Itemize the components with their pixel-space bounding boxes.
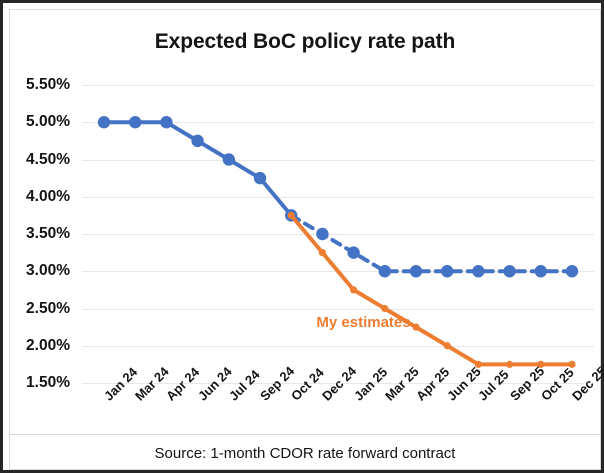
data-point-marker <box>191 135 203 147</box>
plot-area: 5.50%5.00%4.50%4.00%3.50%3.00%2.50%2.00%… <box>82 85 594 383</box>
data-point-marker <box>410 265 422 277</box>
data-point-marker <box>506 361 513 368</box>
data-point-marker <box>223 153 235 165</box>
y-tick-label: 5.50% <box>0 76 70 94</box>
data-point-marker <box>535 265 547 277</box>
data-point-marker <box>379 265 391 277</box>
data-point-marker <box>472 265 484 277</box>
source-caption: Source: 1-month CDOR rate forward contra… <box>155 445 456 462</box>
data-point-marker <box>319 249 326 256</box>
data-point-marker <box>316 228 328 240</box>
data-point-marker <box>350 286 357 293</box>
data-point-marker <box>568 361 575 368</box>
data-point-marker <box>160 116 172 128</box>
chart-area: Expected BoC policy rate path 5.50%5.00%… <box>10 10 600 434</box>
data-point-marker <box>566 265 578 277</box>
data-point-marker <box>381 305 388 312</box>
series-lines <box>82 85 594 383</box>
y-tick-label: 3.00% <box>0 262 70 280</box>
data-point-marker <box>441 265 453 277</box>
y-tick-label: 4.50% <box>0 151 70 169</box>
series-line <box>291 215 572 364</box>
y-tick-label: 5.00% <box>0 113 70 131</box>
data-point-marker <box>254 172 266 184</box>
chart-inner-frame: Expected BoC policy rate path 5.50%5.00%… <box>9 9 601 470</box>
data-point-marker <box>288 212 295 219</box>
data-point-marker <box>347 246 359 258</box>
my-estimates-annotation: My estimates <box>316 314 410 331</box>
chart-title: Expected BoC policy rate path <box>10 30 600 54</box>
y-tick-label: 4.00% <box>0 188 70 206</box>
data-point-marker <box>444 342 451 349</box>
source-box: Source: 1-month CDOR rate forward contra… <box>10 434 600 471</box>
data-point-marker <box>98 116 110 128</box>
chart-frame: Expected BoC policy rate path 5.50%5.00%… <box>0 0 604 473</box>
y-tick-label: 3.50% <box>0 225 70 243</box>
data-point-marker <box>129 116 141 128</box>
data-point-marker <box>503 265 515 277</box>
y-tick-label: 2.50% <box>0 300 70 318</box>
y-tick-label: 2.00% <box>0 337 70 355</box>
y-tick-label: 1.50% <box>0 374 70 392</box>
data-point-marker <box>412 324 419 331</box>
